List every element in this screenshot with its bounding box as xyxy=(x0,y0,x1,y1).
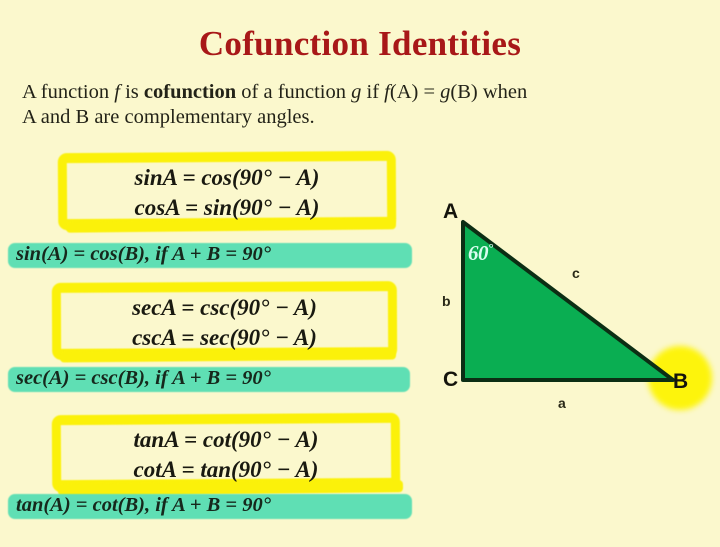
formula-cot-a: cotA = tan(90° − A) xyxy=(52,455,400,485)
formula-sin-a: sinA = cos(90° − A) xyxy=(58,163,396,193)
side-label-c: c xyxy=(572,265,580,281)
vertex-label-b: B xyxy=(673,370,688,394)
intro-text-5: (A) = xyxy=(390,81,440,103)
formula-block-sec-csc: secA = csc(90° − A) cscA = sec(90° − A) xyxy=(52,293,397,353)
formula-csc-a: cscA = sec(90° − A) xyxy=(52,323,397,353)
slide-canvas: Cofunction Identities A function f is co… xyxy=(0,0,720,547)
degree-symbol: ° xyxy=(488,240,493,255)
intro-symbol-g: g xyxy=(351,81,361,103)
intro-text-4: if xyxy=(361,81,384,103)
intro-line-2: A and B are complementary angles. xyxy=(22,106,315,128)
intro-keyword-cofunction: cofunction xyxy=(144,81,236,103)
formula-tan-a: tanA = cot(90° − A) xyxy=(52,425,400,455)
intro-text-6: (B) when xyxy=(450,81,527,103)
intro-symbol-g-of-b: g xyxy=(440,81,450,103)
formula-block-sin-cos: sinA = cos(90° − A) cosA = sin(90° − A) xyxy=(58,163,396,223)
formula-sec-a: secA = csc(90° − A) xyxy=(52,293,397,323)
angle-value: 60 xyxy=(468,241,488,265)
conclusion-sec-csc: sec(A) = csc(B), if A + B = 90° xyxy=(16,367,271,390)
intro-text-1: A function xyxy=(22,81,114,103)
side-label-b: b xyxy=(442,293,451,309)
formula-block-tan-cot: tanA = cot(90° − A) cotA = tan(90° − A) xyxy=(52,425,400,485)
vertex-label-c: C xyxy=(443,368,458,392)
page-title: Cofunction Identities xyxy=(0,24,720,64)
side-label-a: a xyxy=(558,395,566,411)
formula-cos-a: cosA = sin(90° − A) xyxy=(58,193,396,223)
conclusion-tan-cot: tan(A) = cot(B), if A + B = 90° xyxy=(16,494,271,517)
triangle-shape xyxy=(463,222,673,380)
vertex-label-a: A xyxy=(443,200,458,224)
angle-measure-label: 60° xyxy=(468,240,493,266)
intro-text-3: of a function xyxy=(236,81,351,103)
conclusion-sin-cos: sin(A) = cos(B), if A + B = 90° xyxy=(16,243,271,266)
intro-text-2: is xyxy=(120,81,144,103)
intro-paragraph: A function f is cofunction of a function… xyxy=(22,80,712,130)
